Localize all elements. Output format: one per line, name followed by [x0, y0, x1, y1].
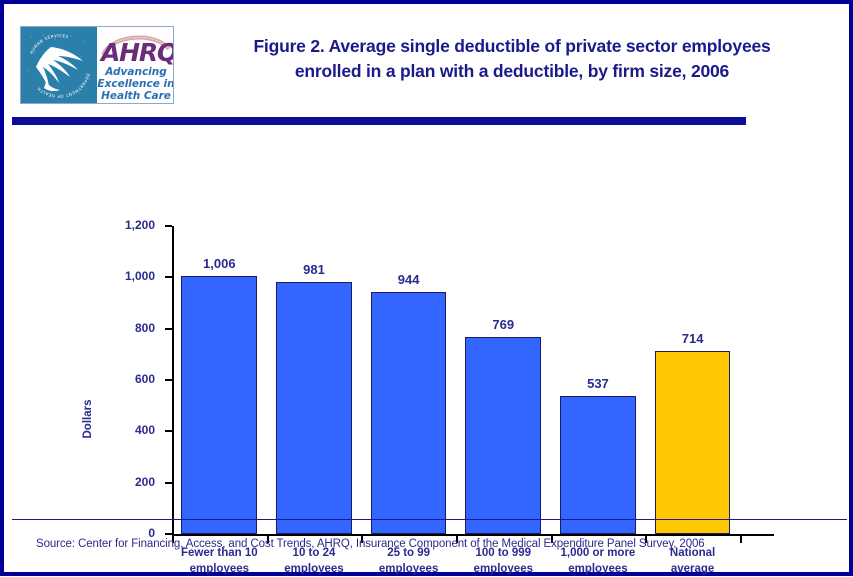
category-label-line: average [645, 562, 740, 577]
bar-value-label: 769 [492, 317, 514, 332]
bar[interactable]: 1,006 [181, 276, 257, 534]
bar-value-label: 537 [587, 376, 609, 391]
x-axis-category-label: 100 to 999employees [456, 546, 551, 577]
bar[interactable]: 537 [560, 396, 636, 534]
bar-value-label: 714 [682, 331, 704, 346]
figure-inner-border: HUMAN SERVICES DEPARTMENT OF HEALTH [4, 4, 849, 572]
category-label-line: employees [456, 562, 551, 577]
x-axis-tick [740, 536, 742, 543]
figure-frame: HUMAN SERVICES DEPARTMENT OF HEALTH [0, 0, 853, 576]
figure-title: Figure 2. Average single deductible of p… [182, 34, 842, 84]
y-axis-label: Dollars [82, 389, 94, 449]
svg-text:Excellence in: Excellence in [97, 78, 173, 90]
category-label-line: employees [361, 562, 456, 577]
header-divider [12, 117, 746, 125]
bar[interactable]: 714 [655, 351, 731, 534]
source-note: Source: Center for Financing, Access, an… [36, 538, 705, 550]
bar-value-label: 944 [398, 272, 420, 287]
category-label-line: employees [551, 562, 646, 577]
plot-area: 1,2001,00080060040020001,006Fewer than 1… [172, 226, 774, 536]
x-axis-category-label: 10 to 24employees [267, 546, 362, 577]
ahrq-logo: HUMAN SERVICES DEPARTMENT OF HEALTH [20, 26, 174, 104]
bar-chart: Dollars 1,2001,00080060040020001,006Fewe… [6, 131, 851, 516]
bar[interactable]: 769 [465, 337, 541, 534]
y-axis-tick: 400 [165, 430, 172, 432]
category-label-line: employees [267, 562, 362, 577]
y-axis-tick: 1,000 [165, 276, 172, 278]
x-axis-category-label: Fewer than 10employees [172, 546, 267, 577]
svg-text:Advancing: Advancing [104, 66, 167, 78]
y-axis-tick: 1,200 [165, 225, 172, 227]
bar[interactable]: 944 [371, 292, 447, 534]
y-axis-tick: 800 [165, 328, 172, 330]
figure-title-line-1: Figure 2. Average single deductible of p… [182, 34, 842, 59]
x-axis-category-label: Nationalaverage [645, 546, 740, 577]
bar[interactable]: 981 [276, 282, 352, 534]
footer-divider [12, 519, 847, 520]
y-axis-tick-label: 600 [135, 372, 155, 386]
figure-header: HUMAN SERVICES DEPARTMENT OF HEALTH [12, 12, 847, 112]
figure-title-line-2: enrolled in a plan with a deductible, by… [182, 59, 842, 84]
category-label-line: employees [172, 562, 267, 577]
x-axis-category-label: 1,000 or moreemployees [551, 546, 646, 577]
ahrq-wordmark: AHRQ Advancing Excellence in Health Care [97, 27, 173, 103]
y-axis-tick-label: 1,000 [125, 269, 155, 283]
bar-value-label: 981 [303, 262, 325, 277]
x-axis-category-label: 25 to 99employees [361, 546, 456, 577]
svg-text:Health Care: Health Care [101, 90, 171, 102]
hhs-seal-icon: HUMAN SERVICES DEPARTMENT OF HEALTH [21, 27, 97, 103]
x-axis-line [172, 534, 774, 536]
y-axis-tick: 200 [165, 482, 172, 484]
y-axis-tick-label: 1,200 [125, 218, 155, 232]
bar-value-label: 1,006 [203, 256, 236, 271]
y-axis-tick-label: 800 [135, 321, 155, 335]
y-axis-tick-label: 400 [135, 423, 155, 437]
y-axis-tick: 600 [165, 379, 172, 381]
y-axis-tick-label: 200 [135, 475, 155, 489]
y-axis-line [172, 226, 174, 536]
svg-text:AHRQ: AHRQ [99, 38, 173, 67]
y-axis-tick: 0 [165, 533, 172, 535]
